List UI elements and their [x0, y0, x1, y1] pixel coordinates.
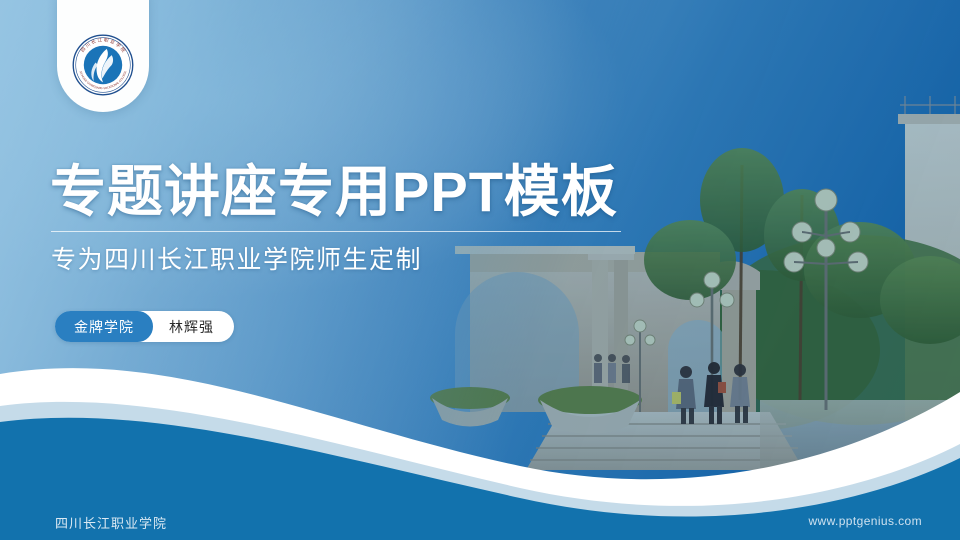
tag-primary[interactable]: 金牌学院 — [55, 311, 153, 342]
presentation-slide: 四 川 长 江 职 业 学 院 SICHUAN CHANGJIANG VOCAT… — [0, 0, 960, 540]
footer-website[interactable]: www.pptgenius.com — [808, 514, 922, 528]
footer-school-name: 四川长江职业学院 — [55, 513, 167, 532]
page-title: 专题讲座专用PPT模板 — [50, 161, 618, 223]
tag-secondary[interactable]: 林辉强 — [153, 311, 234, 342]
page-subtitle: 专为四川长江职业学院师生定制 — [51, 244, 422, 276]
title-divider — [51, 231, 621, 232]
school-crest-icon: 四 川 长 江 职 业 学 院 SICHUAN CHANGJIANG VOCAT… — [72, 34, 134, 96]
wave-decoration — [0, 340, 960, 540]
tag-pill-group: 金牌学院 林辉强 — [55, 311, 234, 342]
logo-badge: 四 川 长 江 职 业 学 院 SICHUAN CHANGJIANG VOCAT… — [57, 0, 149, 112]
